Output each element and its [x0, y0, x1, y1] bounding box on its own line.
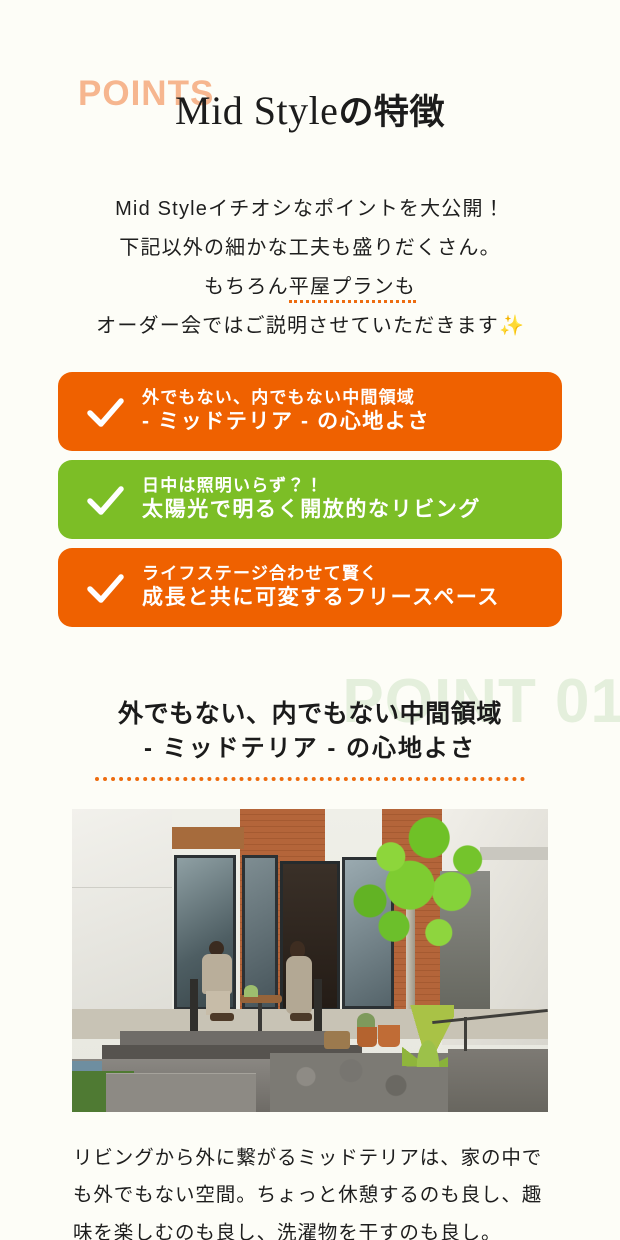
point01-heading: 外でもない、内でもない中間領域 - ミッドテリア - の心地よさ [0, 697, 620, 766]
point01-heading-block: POINT 01 外でもない、内でもない中間領域 - ミッドテリア - の心地よ… [0, 671, 620, 779]
point-summary-list: 外でもない、内でもない中間領域 - ミッドテリア - の心地よさ 日中は照明いら… [58, 372, 562, 627]
point-summary-item-2-line2: 太陽光で明るく開放的なリビング [142, 497, 481, 524]
point-summary-item-2[interactable]: 日中は照明いらず？！ 太陽光で明るく開放的なリビング [58, 460, 562, 539]
point01-body-line3: 味を楽しむのも良し、洗濯物を干すのも良し。 [73, 1215, 547, 1240]
terrace-photo-illustration [72, 809, 548, 1112]
intro-line-3-underlined: 平屋プランも [289, 276, 416, 303]
point-summary-item-3-line1: ライフステージ合わせて賢く [142, 563, 500, 585]
page-title-en: Mid Style [175, 88, 338, 133]
intro-line-2: 下記以外の細かな工夫も盛りだくさん。 [0, 229, 620, 268]
intro-line-1: Mid Styleイチオシなポイントを大公開！ [0, 190, 620, 229]
point01-heading-line2: - ミッドテリア - の心地よさ [0, 732, 620, 766]
point01-body-text: リビングから外に繋がるミッドテリアは、家の中で も外でもない空間。ちょっと休憩す… [73, 1140, 547, 1240]
points-page: POINTS Mid Styleの特徴 Mid Styleイチオシなポイントを大… [0, 52, 620, 1240]
point-summary-text-3: ライフステージ合わせて賢く 成長と共に可変するフリースペース [142, 563, 500, 612]
page-title-jp: の特徴 [338, 93, 445, 133]
point01-body-line2: も外でもない空間。ちょっと休憩するのも良し、趣 [73, 1177, 547, 1214]
point-summary-item-1-line2: - ミッドテリア - の心地よさ [142, 409, 430, 436]
point-summary-item-3[interactable]: ライフステージ合わせて賢く 成長と共に可変するフリースペース [58, 548, 562, 627]
point-summary-item-2-line1: 日中は照明いらず？！ [142, 475, 481, 497]
point-summary-text-1: 外でもない、内でもない中間領域 - ミッドテリア - の心地よさ [142, 387, 430, 436]
intro-line-3: もちろん平屋プランも [0, 268, 620, 307]
point01-heading-line1: 外でもない、内でもない中間領域 [0, 697, 620, 732]
intro-line-4: オーダー会ではご説明させていただきます✨ [0, 307, 620, 346]
point-summary-item-3-line2: 成長と共に可変するフリースペース [142, 585, 500, 612]
check-icon [82, 565, 128, 611]
sparkle-icon: ✨ [499, 315, 524, 337]
page-title: Mid Styleの特徴 [0, 88, 620, 134]
point-summary-item-1[interactable]: 外でもない、内でもない中間領域 - ミッドテリア - の心地よさ [58, 372, 562, 451]
check-icon [82, 389, 128, 435]
check-icon [82, 477, 128, 523]
point01-body-line1: リビングから外に繋がるミッドテリアは、家の中で [73, 1140, 547, 1177]
terrace-photo [72, 809, 548, 1112]
dotted-divider [95, 777, 525, 781]
intro-paragraph: Mid Styleイチオシなポイントを大公開！ 下記以外の細かな工夫も盛りだくさ… [0, 190, 620, 346]
page-header: POINTS Mid Styleの特徴 [0, 52, 620, 172]
point-summary-item-1-line1: 外でもない、内でもない中間領域 [142, 387, 430, 409]
intro-line-3-prefix: もちろん [204, 276, 289, 298]
point-summary-text-2: 日中は照明いらず？！ 太陽光で明るく開放的なリビング [142, 475, 481, 524]
intro-line-4-text: オーダー会ではご説明させていただきます [96, 315, 499, 337]
